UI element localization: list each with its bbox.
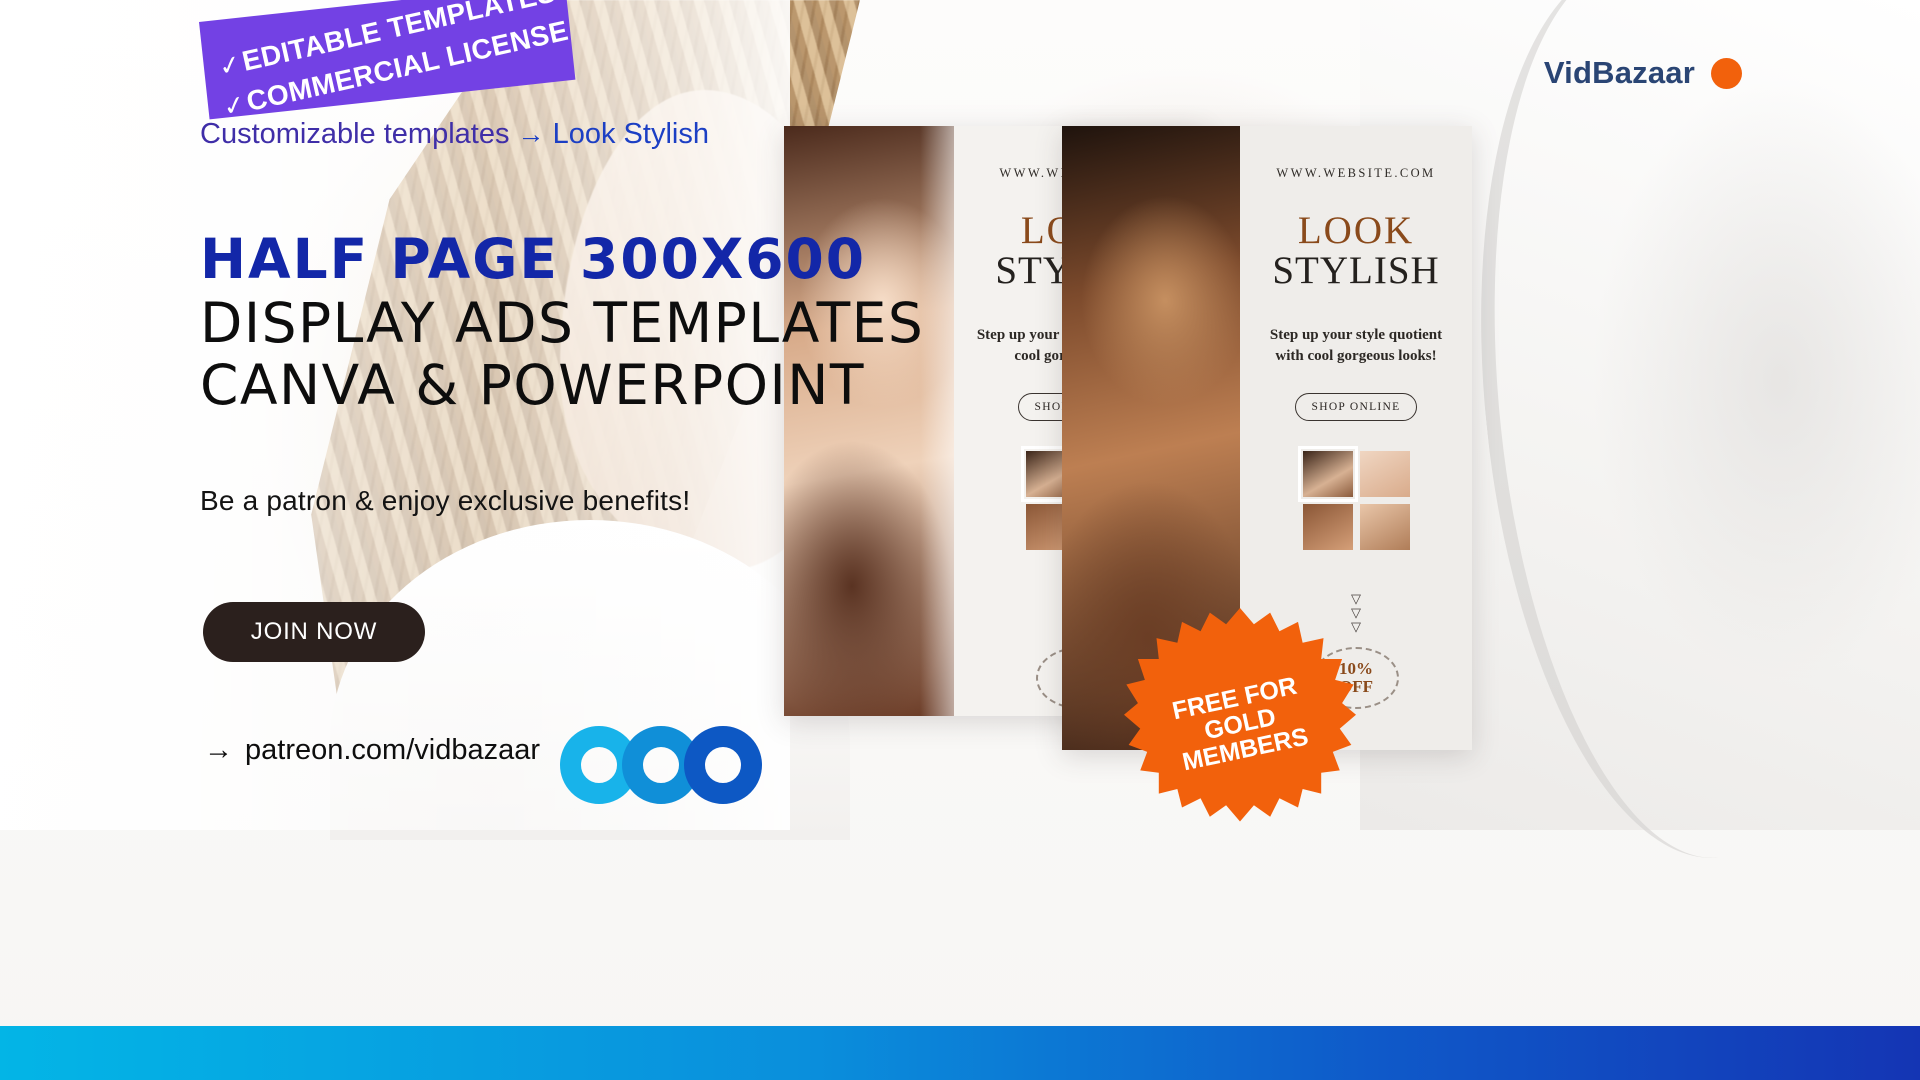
ad-heading-bottom: STYLISH (1272, 251, 1439, 291)
headline-line-3: CANVA & POWERPOINT (200, 358, 865, 413)
join-now-button[interactable]: JOIN NOW (203, 602, 425, 662)
subtext: Be a patron & enjoy exclusive benefits! (200, 485, 690, 517)
shop-online-button[interactable]: SHOP ONLINE (1295, 393, 1418, 421)
patreon-link[interactable]: →patreon.com/vidbazaar (204, 734, 540, 767)
starburst-text: FREE FOR GOLD MEMBERS (1102, 586, 1377, 861)
ad-heading-top: LOOK (1272, 211, 1439, 251)
ad-description: Step up your style quotient with cool go… (1254, 325, 1458, 368)
ad-thumbnail (1360, 451, 1410, 497)
ad-thumbnail (1303, 451, 1353, 497)
free-for-gold-members-badge: FREE FOR GOLD MEMBERS (1124, 608, 1356, 840)
brand-dot-icon (1711, 58, 1742, 89)
tagline-link: Look Stylish (553, 118, 709, 150)
brand-lockup: VidBazaar (1544, 55, 1742, 91)
ad-thumbnail (1303, 504, 1353, 550)
brand-name: VidBazaar (1544, 55, 1695, 91)
left-content-column: Customizable templates → Look Stylish HA… (200, 0, 840, 830)
tagline: Customizable templates → Look Stylish (200, 118, 709, 151)
headline-line-1: HALF PAGE 300X600 (200, 232, 866, 287)
patreon-url-label: patreon.com/vidbazaar (245, 734, 540, 766)
headline-line-2: DISPLAY ADS TEMPLATES (200, 296, 924, 351)
ring-icon-3 (684, 726, 762, 804)
ad-thumbnail (1360, 504, 1410, 550)
arrow-right-icon: → (204, 734, 233, 766)
ad-thumbnail-grid (1303, 451, 1410, 550)
ad-website-url: WWW.WEBSITE.COM (1276, 166, 1435, 181)
rings-logo (560, 726, 762, 804)
triangle-down-icon: ▽ (1351, 592, 1361, 605)
tagline-lead: Customizable templates (200, 118, 509, 150)
ad-heading: LOOK STYLISH (1272, 211, 1439, 291)
bottom-gradient-bar (0, 1026, 1920, 1080)
arrow-right-icon: → (518, 119, 545, 149)
